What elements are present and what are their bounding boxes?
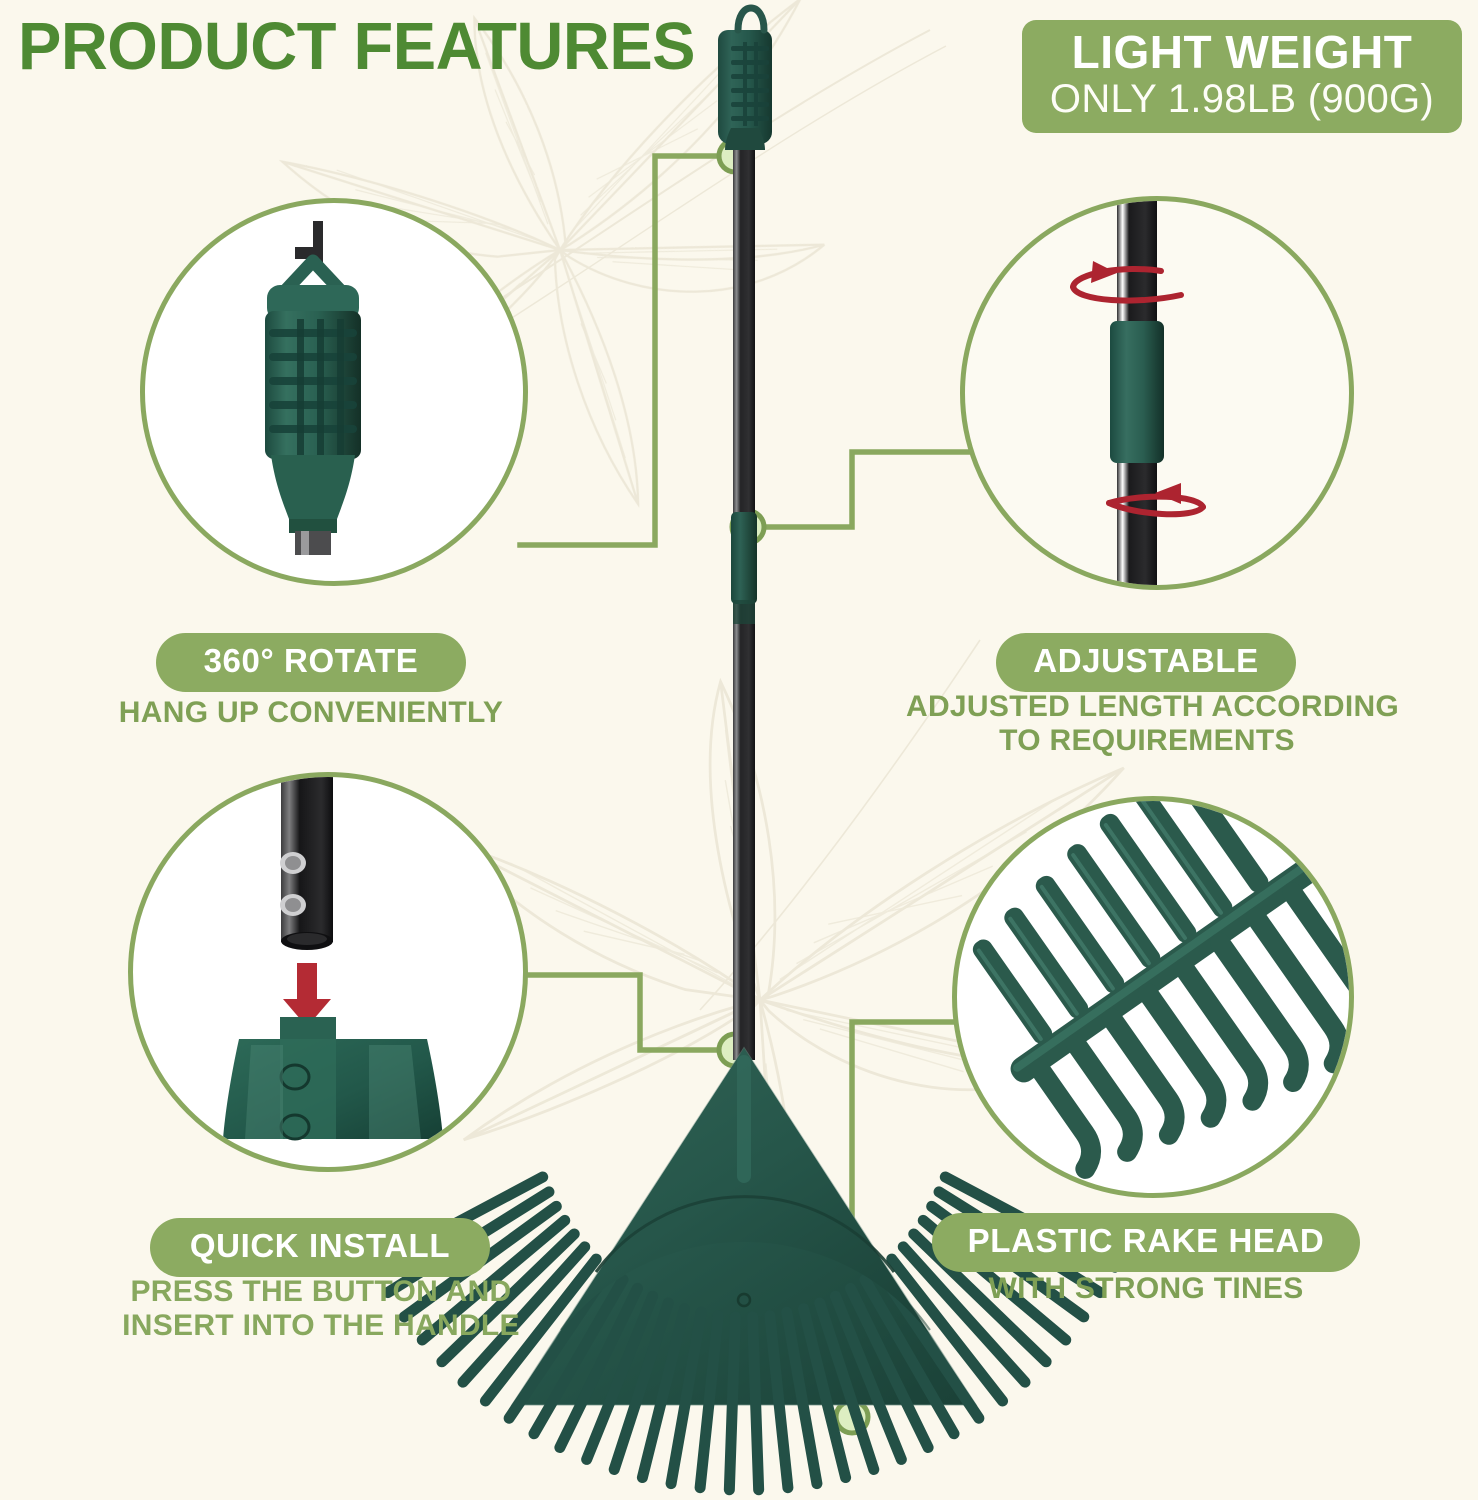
feature-bubble-rotate — [140, 198, 528, 586]
plastic-tines-icon — [957, 801, 1349, 1193]
badge-line-2: ONLY 1.98LB (900G) — [1022, 78, 1462, 120]
feature-bubble-quick-install — [128, 772, 528, 1172]
adjustable-pole-icon — [965, 201, 1349, 585]
light-weight-badge: LIGHT WEIGHT ONLY 1.98LB (900G) — [1022, 20, 1462, 133]
caption-360-rotate: HANG UP CONVENIENTLY — [106, 696, 516, 730]
infographic-canvas: PRODUCT FEATURES LIGHT WEIGHT ONLY 1.98L… — [0, 0, 1478, 1500]
pill-plastic-rake-head[interactable]: PLASTIC RAKE HEAD — [932, 1213, 1360, 1272]
feature-bubble-rake-head — [952, 796, 1354, 1198]
caption-plastic-rake-head: WITH STRONG TINES — [932, 1272, 1360, 1306]
quick-install-icon — [133, 777, 523, 1167]
handle-grip-icon — [145, 203, 523, 581]
caption-adjustable: ADJUSTED LENGTH ACCORDING TO REQUIREMENT… — [906, 690, 1388, 757]
pill-quick-install[interactable]: QUICK INSTALL — [150, 1218, 490, 1277]
page-title: PRODUCT FEATURES — [18, 8, 695, 85]
badge-line-1: LIGHT WEIGHT — [1022, 29, 1462, 76]
caption-quick-install: PRESS THE BUTTON AND INSERT INTO THE HAN… — [110, 1275, 532, 1342]
feature-bubble-adjustable — [960, 196, 1354, 590]
handle-grip — [718, 8, 772, 150]
pill-adjustable[interactable]: ADJUSTABLE — [996, 633, 1296, 692]
pill-360-rotate[interactable]: 360° ROTATE — [156, 633, 466, 692]
